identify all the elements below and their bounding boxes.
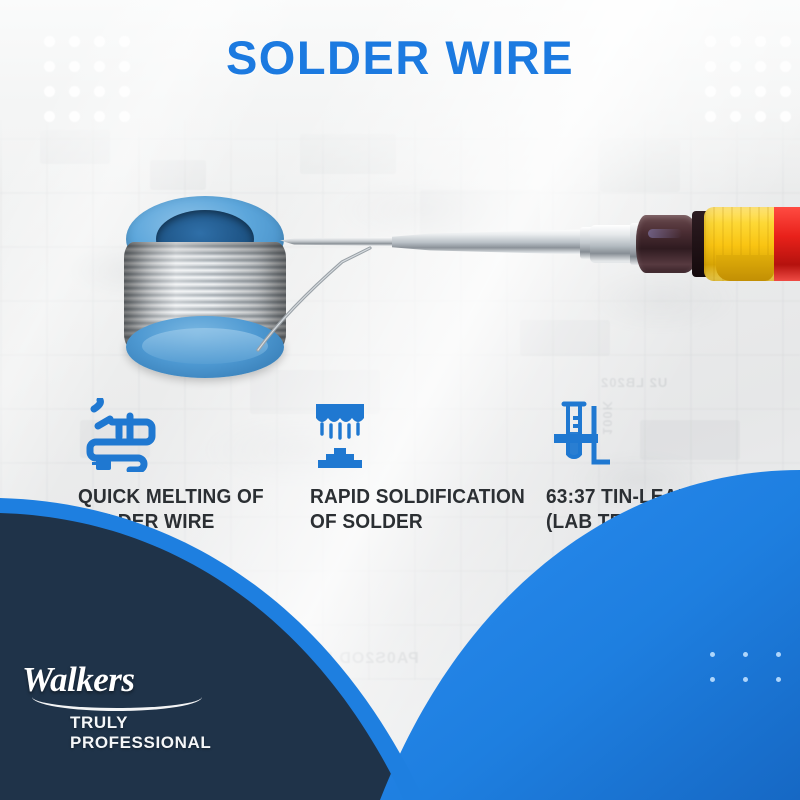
dot-grid-blue-footer: [710, 652, 800, 682]
poster-canvas: C4390 R2 C252 PA0S2OD PA09 U2 LB202 100K…: [0, 0, 800, 800]
decor-dot-blue: [710, 677, 715, 682]
decor-dot-blue: [776, 677, 781, 682]
decor-dot-blue: [710, 652, 715, 657]
brand-logo: Walkers TRULY PROFESSIONAL: [22, 660, 272, 753]
brand-tagline: TRULY PROFESSIONAL: [70, 713, 272, 753]
decor-dot-blue: [776, 652, 781, 657]
decor-dot-blue: [743, 652, 748, 657]
decor-dot-blue: [743, 677, 748, 682]
brand-underline-swash: [32, 694, 202, 711]
